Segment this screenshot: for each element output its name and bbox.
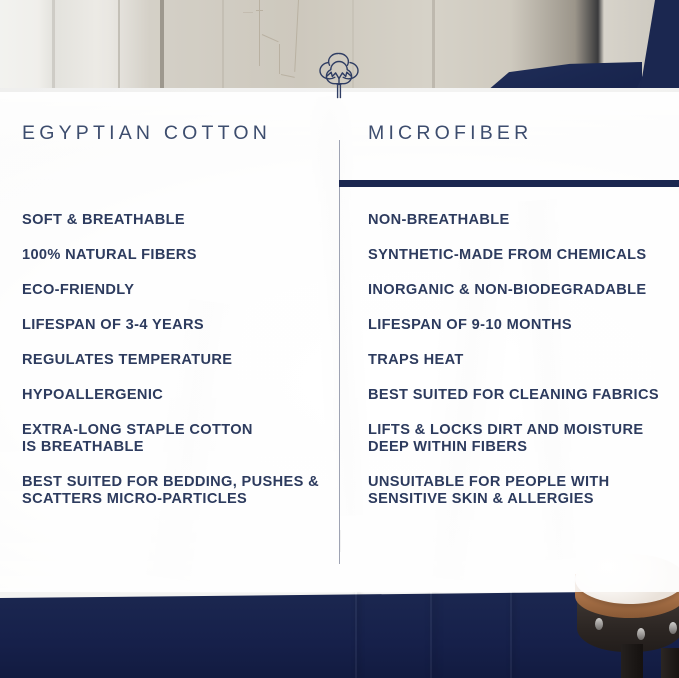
wall-art-line [259,0,260,16]
column-title-egyptian-cotton: EGYPTIAN COTTON [22,92,342,145]
feature-list-egyptian-cotton: SOFT & BREATHABLE 100% NATURAL FIBERS EC… [22,212,342,508]
feature-item: TRAPS HEAT [368,352,679,369]
side-table-leg [661,648,679,678]
wall-art-line [259,16,260,66]
feature-item: LIFESPAN OF 9-10 MONTHS [368,317,679,334]
bedskirt-fold [430,592,432,678]
bedskirt-fold [510,592,512,678]
comparison-content: EGYPTIAN COTTON SOFT & BREATHABLE 100% N… [0,92,679,592]
feature-item: BEST SUITED FOR CLEANING FABRICS [368,387,679,404]
wall-art-line [279,44,280,74]
wall-seam [222,0,224,96]
wall-seam [160,0,164,96]
side-table-rivet [637,628,645,640]
wall-seam [52,0,55,96]
side-table-leg [621,644,643,678]
feature-item: REGULATES TEMPERATURE [22,352,342,369]
bedskirt-fold [355,592,357,678]
side-table-rivet [595,618,603,630]
column-microfiber: MICROFIBER NON-BREATHABLE SYNTHETIC-MADE… [368,92,679,145]
microfiber-accent-bar [339,180,679,187]
wall-art-line [243,12,253,13]
feature-item: SYNTHETIC-MADE FROM CHEMICALS [368,247,679,264]
wall-art-line [256,10,263,11]
column-title-microfiber: MICROFIBER [368,92,679,145]
feature-item: ECO-FRIENDLY [22,282,342,299]
feature-item: UNSUITABLE FOR PEOPLE WITH SENSITIVE SKI… [368,474,679,508]
feature-list-microfiber: NON-BREATHABLE SYNTHETIC-MADE FROM CHEMI… [368,212,679,508]
column-egyptian-cotton: EGYPTIAN COTTON SOFT & BREATHABLE 100% N… [22,92,342,145]
feature-item: HYPOALLERGENIC [22,387,342,404]
feature-item: SOFT & BREATHABLE [22,212,342,229]
infographic-stage: EGYPTIAN COTTON SOFT & BREATHABLE 100% N… [0,0,679,678]
feature-item: 100% NATURAL FIBERS [22,247,342,264]
feature-item: BEST SUITED FOR BEDDING, PUSHES & SCATTE… [22,474,342,508]
feature-item: INORGANIC & NON-BIODEGRADABLE [368,282,679,299]
side-table-rivet [669,622,677,634]
wall-seam [118,0,120,96]
feature-item: NON-BREATHABLE [368,212,679,229]
feature-item: LIFTS & LOCKS DIRT AND MOISTURE DEEP WIT… [368,422,679,456]
wall-seam [432,0,435,96]
feature-item: LIFESPAN OF 3-4 YEARS [22,317,342,334]
feature-item: EXTRA-LONG STAPLE COTTON IS BREATHABLE [22,422,342,456]
